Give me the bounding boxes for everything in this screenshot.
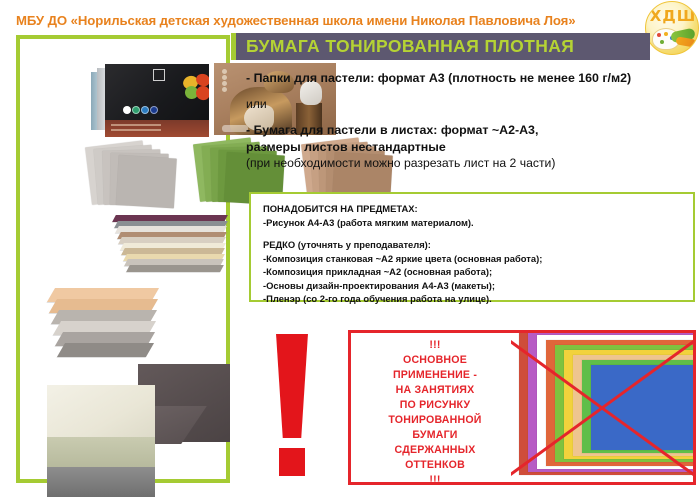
page-title-bar: БУМАГА ТОНИРОВАННАЯ ПЛОТНАЯ [231,33,650,60]
warning-line-8: ОТТЕНКОВ [355,458,515,473]
color-dot [123,106,131,114]
red-cross-out-mark [511,333,693,482]
warning-line-3: НА ЗАНЯТИЯХ [355,383,515,398]
warning-line-2: ПРИМЕНЕНИЕ - [355,368,515,383]
page-title: БУМАГА ТОНИРОВАННАЯ ПЛОТНАЯ [246,33,646,60]
logo-disc: ХДШ [645,1,699,55]
warning-bottom-marks: !!! [355,473,515,488]
warning-top-marks: !!! [355,338,515,353]
school-header-title: МБУ ДО «Норильская детская художественна… [16,11,646,31]
color-dots [123,106,163,112]
warning-line-7: СДЕРЖАННЫХ [355,443,515,458]
requirements-text: - Папки для пастели: формат А3 (плотност… [246,70,694,171]
paper-sheet [116,155,177,208]
bright-colored-paper-photo [511,333,693,482]
color-dot [150,106,158,114]
toned-paper-stack-photo [112,215,234,295]
subjects-heading-needed: ПОНАДОБИТСЯ НА ПРЕДМЕТАХ: [263,202,687,216]
requirement-line-3: - Бумага для пастели в листах: формат ~А… [246,122,694,138]
requirement-line-2: или [246,96,694,112]
subject-item-3: -Композиция прикладная ~А2 (основная раб… [263,265,687,279]
warning-line-5: ТОНИРОВАННОЙ [355,413,515,428]
subject-item-2: -Композиция станковая ~А2 яркие цвета (о… [263,252,687,266]
warning-text: !!! ОСНОВНОЕ ПРИМЕНЕНИЕ - НА ЗАНЯТИЯХ ПО… [355,338,515,488]
pastel-folder-box-photo [89,64,209,137]
color-dot [132,106,140,114]
brand-mark-icon [153,69,165,81]
logo-letters: ХДШ [646,7,699,25]
subjects-info-box: ПОНАДОБИТСЯ НА ПРЕДМЕТАХ: -Рисунок А4-А3… [249,192,695,302]
school-logo: ХДШ [645,1,699,55]
paper-sheet [57,343,154,357]
color-dot [141,106,149,114]
warning-line-4: ПО РИСУНКУ [355,398,515,413]
warning-box: !!! ОСНОВНОЕ ПРИМЕНЕНИЕ - НА ЗАНЯТИЯХ ПО… [348,330,696,485]
textured-paper-block-photo [47,385,155,497]
subject-item-5: -Пленэр (со 2-го года обучения работа на… [263,292,687,306]
gray-paper-fan [92,147,180,209]
subject-item-4: -Основы дизайн-проектирования А4-А3 (мак… [263,279,687,293]
requirement-line-1: - Папки для пастели: формат А3 (плотност… [246,70,694,86]
warning-line-6: БУМАГИ [355,428,515,443]
paper-sheet [126,265,224,272]
exclamation-mark-icon [271,334,313,479]
warning-line-1: ОСНОВНОЕ [355,353,515,368]
butterfly-icon [183,74,209,104]
subjects-heading-rare: РЕДКО (уточнять у преподавателя): [263,238,687,252]
requirement-line-5: (при необходимости можно разрезать лист … [246,155,694,171]
photo-gallery-frame [16,35,230,483]
requirement-line-4: размеры листов нестандартные [246,139,694,155]
subject-item-1: -Рисунок А4-А3 (работа мягким материалом… [263,216,687,230]
